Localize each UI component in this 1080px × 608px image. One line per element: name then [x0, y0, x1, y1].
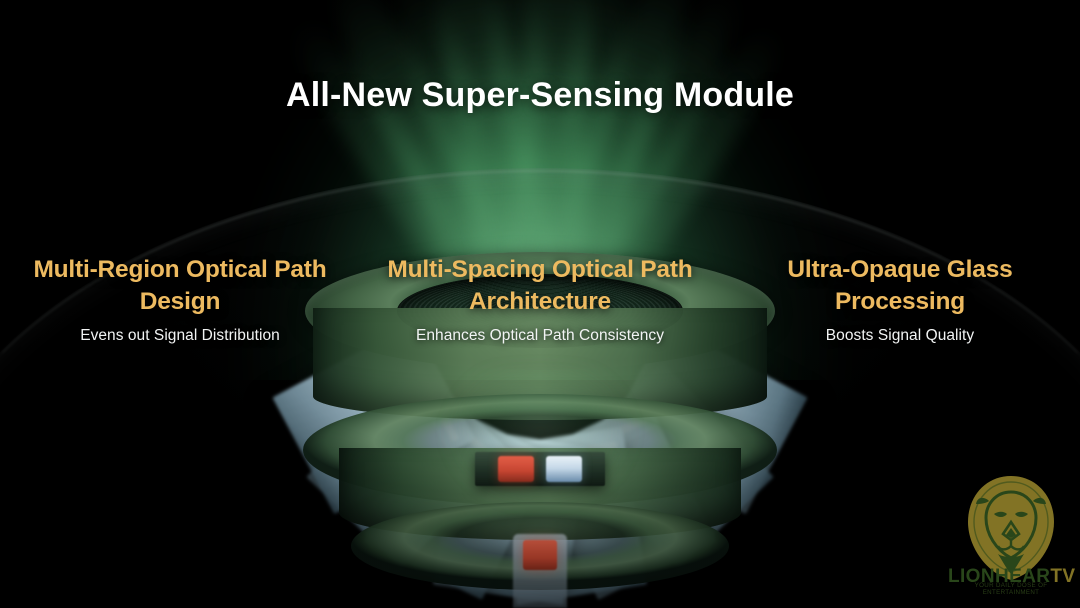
feature-heading: Multi-Region Optical Path Design	[8, 254, 352, 319]
blue-sensor-chip	[546, 456, 582, 482]
feature-subtitle: Boosts Signal Quality	[728, 327, 1072, 345]
watermark-logo: LIONHEARTV YOUR DAILY DOSE OF ENTERTAINM…	[948, 470, 1074, 604]
watermark-tagline: YOUR DAILY DOSE OF ENTERTAINMENT	[948, 582, 1074, 596]
feature-columns: Multi-Region Optical Path Design Evens o…	[0, 254, 1080, 345]
feature-heading: Ultra-Opaque Glass Processing	[728, 254, 1072, 319]
feature-subtitle: Enhances Optical Path Consistency	[368, 327, 712, 345]
feature-column-multi-spacing: Multi-Spacing Optical Path Architecture …	[360, 254, 720, 345]
chip-deck	[475, 452, 605, 486]
feature-subtitle: Evens out Signal Distribution	[8, 327, 352, 345]
page-title: All-New Super-Sensing Module	[0, 76, 1080, 115]
front-red-led-chip	[523, 540, 557, 570]
feature-column-ultra-opaque: Ultra-Opaque Glass Processing Boosts Sig…	[720, 254, 1080, 345]
red-led-chip	[498, 456, 534, 482]
slide-canvas: All-New Super-Sensing Module Multi-Regio…	[0, 0, 1080, 608]
feature-heading: Multi-Spacing Optical Path Architecture	[368, 254, 712, 319]
feature-column-multi-region: Multi-Region Optical Path Design Evens o…	[0, 254, 360, 345]
